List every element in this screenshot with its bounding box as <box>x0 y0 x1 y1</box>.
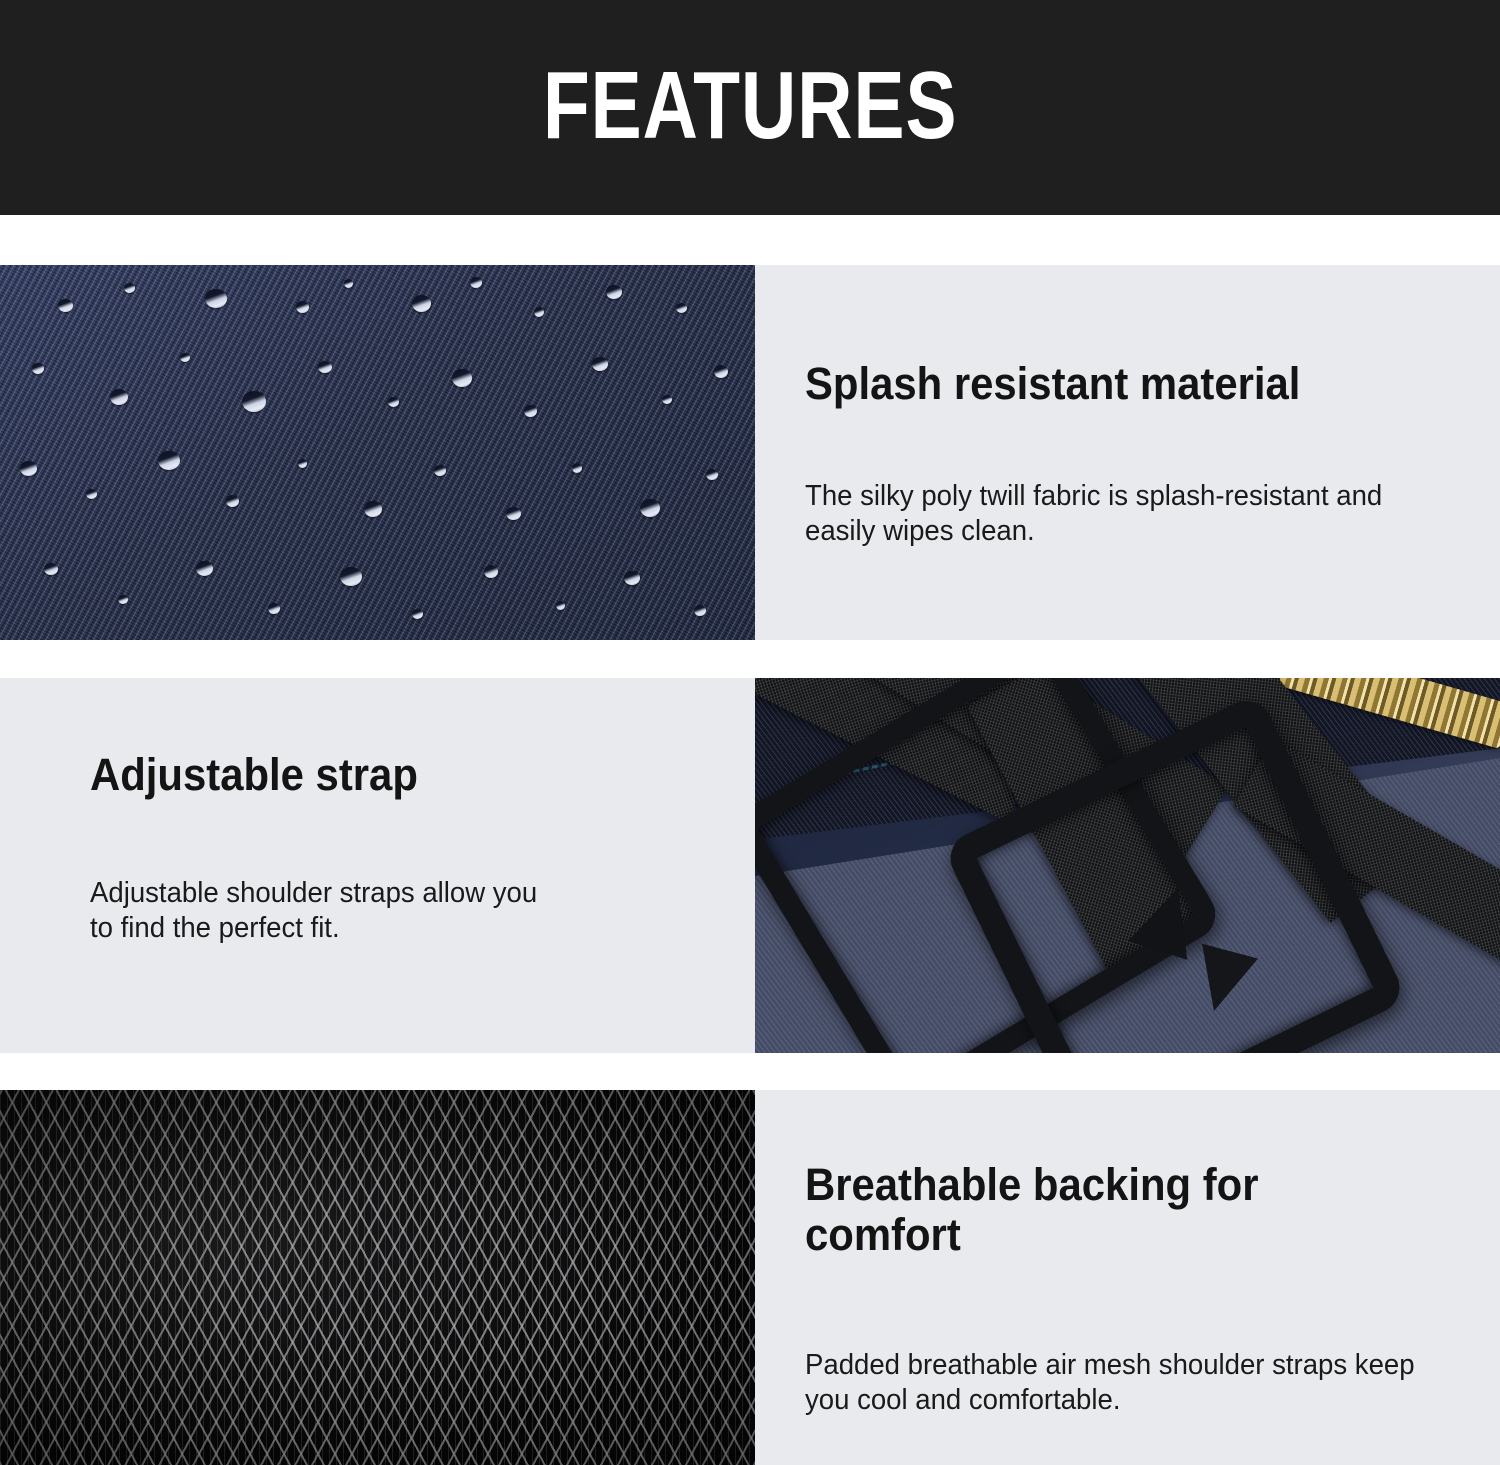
feature-image-air-mesh <box>0 1090 755 1465</box>
strap-buckle-photo <box>755 678 1500 1053</box>
features-infographic: FEATURES <box>0 0 1500 1465</box>
water-droplets-layer <box>0 265 755 640</box>
feature-heading: Adjustable strap <box>90 750 418 800</box>
feature-body: Padded breathable air mesh shoulder stra… <box>805 1348 1427 1419</box>
feature-image-strap-buckle <box>755 678 1500 1053</box>
mesh-vignette <box>0 1090 755 1465</box>
feature-row-breathable-backing-for-comfort: Breathable backing for comfort Padded br… <box>0 1090 1500 1465</box>
page-title: FEATURES <box>543 58 958 154</box>
feature-heading: Splash resistant material <box>805 359 1300 409</box>
header-banner: FEATURES <box>0 0 1500 215</box>
feature-row-splash-resistant-material: Splash resistant material The silky poly… <box>0 265 1500 640</box>
feature-text-panel-adjustable-strap: Adjustable strap Adjustable shoulder str… <box>0 678 755 1053</box>
feature-text-panel-splash-resistant-material: Splash resistant material The silky poly… <box>755 265 1500 640</box>
feature-body: The silky poly twill fabric is splash-re… <box>805 479 1427 550</box>
feature-text-panel-breathable-backing-for-comfort: Breathable backing for comfort Padded br… <box>755 1090 1500 1465</box>
feature-body: Adjustable shoulder straps allow you to … <box>90 876 565 947</box>
feature-heading: Breathable backing for comfort <box>805 1160 1414 1261</box>
feature-image-navy-twill-fabric <box>0 265 755 640</box>
feature-row-adjustable-strap: Adjustable strap Adjustable shoulder str… <box>0 678 1500 1053</box>
